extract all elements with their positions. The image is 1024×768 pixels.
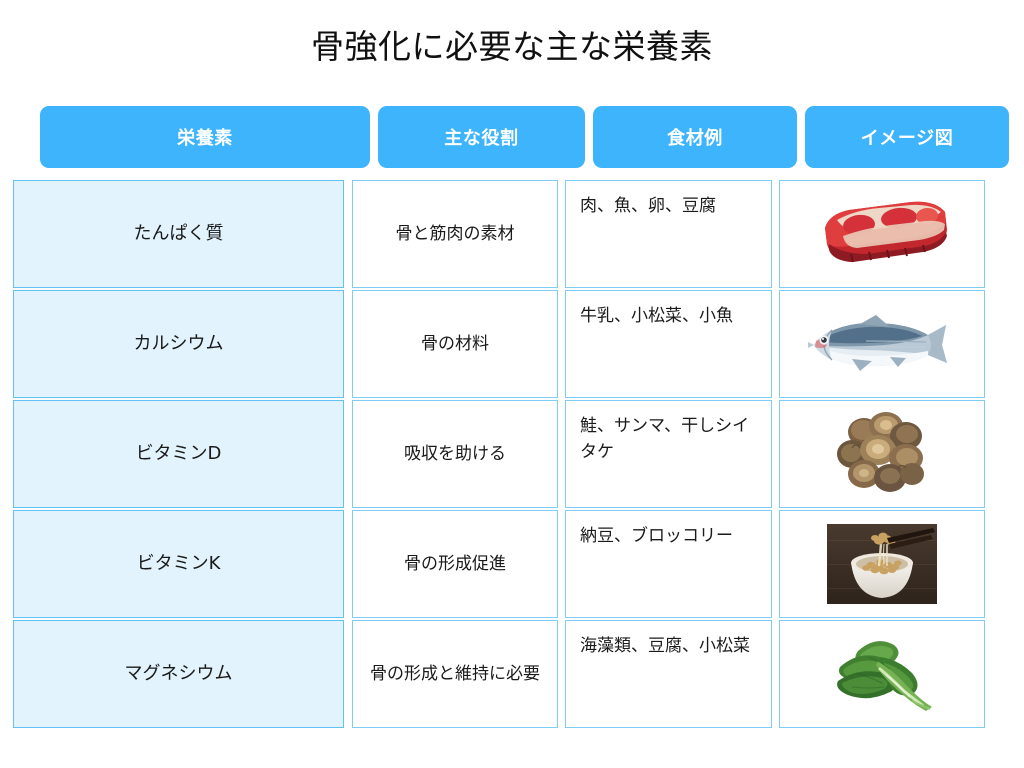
cell-image — [779, 620, 985, 728]
cell-foods: 納豆、ブロッコリー — [565, 510, 772, 618]
role-label: 骨と筋肉の素材 — [363, 222, 547, 247]
nutrient-label: たんぱく質 — [134, 221, 224, 247]
column-header-image: イメージ図 — [805, 106, 1009, 168]
column-header-label: 食材例 — [667, 124, 723, 150]
table-row: カルシウム 骨の材料 牛乳、小松菜、小魚 — [0, 290, 1024, 398]
role-label: 吸収を助ける — [363, 442, 547, 467]
cell-role: 骨の形成促進 — [352, 510, 558, 618]
role-label: 骨の材料 — [363, 332, 547, 357]
nutrient-label: カルシウム — [134, 331, 224, 357]
column-header-role: 主な役割 — [378, 106, 585, 168]
cell-role: 吸収を助ける — [352, 400, 558, 508]
column-header-label: イメージ図 — [861, 124, 954, 150]
nutrient-label: ビタミンK — [137, 551, 221, 577]
table-header-row: 栄養素 主な役割 食材例 イメージ図 — [0, 106, 1024, 168]
cell-role: 骨と筋肉の素材 — [352, 180, 558, 288]
column-header-nutrient: 栄養素 — [40, 106, 370, 168]
dried-shiitake-mushrooms-photo — [780, 401, 984, 507]
nutrient-label: マグネシウム — [125, 661, 233, 687]
cell-image — [779, 180, 985, 288]
cell-foods: 牛乳、小松菜、小魚 — [565, 290, 772, 398]
cell-nutrient: カルシウム — [13, 290, 344, 398]
steak-meat-illustration — [780, 181, 984, 287]
cell-foods: 海藻類、豆腐、小松菜 — [565, 620, 772, 728]
slide-canvas: 骨強化に必要な主な栄養素 栄養素 主な役割 食材例 イメージ図 たんぱく質 骨と… — [0, 0, 1024, 768]
table-row: たんぱく質 骨と筋肉の素材 肉、魚、卵、豆腐 — [0, 180, 1024, 288]
foods-label: 肉、魚、卵、豆腐 — [580, 193, 716, 219]
column-header-label: 主な役割 — [444, 124, 518, 150]
cell-foods: 肉、魚、卵、豆腐 — [565, 180, 772, 288]
cell-nutrient: ビタミンK — [13, 510, 344, 618]
role-label: 骨の形成と維持に必要 — [363, 662, 547, 687]
cell-nutrient: たんぱく質 — [13, 180, 344, 288]
cell-nutrient: マグネシウム — [13, 620, 344, 728]
cell-image — [779, 400, 985, 508]
cell-foods: 鮭、サンマ、干しシイタケ — [565, 400, 772, 508]
column-header-foods: 食材例 — [593, 106, 797, 168]
small-fish-sardine-photo — [780, 291, 984, 397]
cell-role: 骨の形成と維持に必要 — [352, 620, 558, 728]
table-row: マグネシウム 骨の形成と維持に必要 海藻類、豆腐、小松菜 — [0, 620, 1024, 728]
cell-image — [779, 510, 985, 618]
table-row: ビタミンK 骨の形成促進 納豆、ブロッコリー — [0, 510, 1024, 618]
role-label: 骨の形成促進 — [363, 552, 547, 577]
table-row: ビタミンD 吸収を助ける 鮭、サンマ、干しシイタケ — [0, 400, 1024, 508]
foods-label: 鮭、サンマ、干しシイタケ — [580, 413, 757, 466]
page-title: 骨強化に必要な主な栄養素 — [0, 26, 1024, 69]
column-header-label: 栄養素 — [177, 124, 233, 150]
cell-role: 骨の材料 — [352, 290, 558, 398]
foods-label: 海藻類、豆腐、小松菜 — [580, 633, 750, 659]
komatsuna-greens-photo — [780, 621, 984, 727]
foods-label: 納豆、ブロッコリー — [580, 523, 733, 549]
nutrient-label: ビタミンD — [136, 441, 222, 467]
natto-bowl-photo — [780, 511, 984, 617]
cell-nutrient: ビタミンD — [13, 400, 344, 508]
foods-label: 牛乳、小松菜、小魚 — [580, 303, 733, 329]
table-body: たんぱく質 骨と筋肉の素材 肉、魚、卵、豆腐 — [0, 180, 1024, 730]
cell-image — [779, 290, 985, 398]
